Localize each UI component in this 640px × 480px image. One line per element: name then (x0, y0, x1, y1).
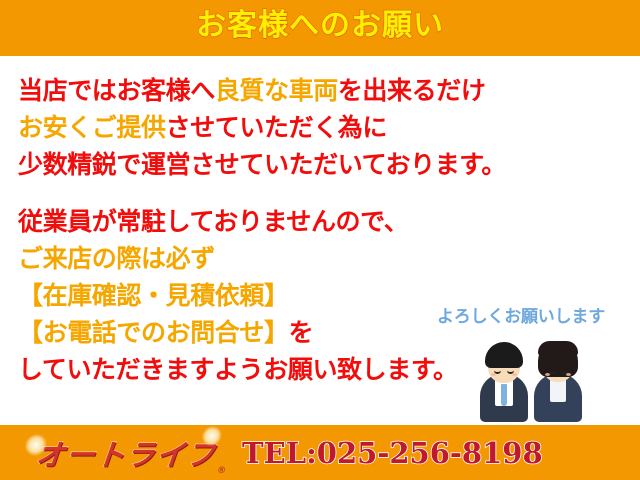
two-bowing-people-illustration (478, 332, 586, 422)
greeting-text: よろしくお願いします (437, 302, 605, 327)
male-staff-figure (478, 332, 530, 422)
body-text-segment: 少数精鋭で運営させていただいております。 (18, 150, 506, 179)
body-text-segment: を出来るだけ (338, 76, 486, 105)
company-logo-text: オートライフ (34, 438, 218, 472)
cheek-right (566, 373, 571, 376)
body-text-segment: させていただく為に (166, 113, 387, 142)
company-logo: オートライフ ® (34, 432, 218, 474)
body-text-segment: 【在庫確認・見積依頼】 (18, 281, 289, 310)
body-text-segment: ご来店の際は必ず (18, 244, 215, 273)
body-text-segment: 良質な車両 (215, 76, 338, 105)
cheek-left (545, 373, 550, 376)
body-line: 当店ではお客様へ良質な車両を出来るだけ (18, 72, 618, 109)
body-line: 従業員が常駐しておりませんので、 (18, 203, 618, 240)
telephone-number: TEL:025-256-8198 (242, 436, 543, 470)
hair-shape (485, 342, 523, 368)
hair-fringe-shape (538, 341, 578, 357)
body-text-segment: 従業員が常駐しておりませんので、 (18, 207, 408, 236)
body-text-segment: していただきますようお願い致します。 (18, 355, 458, 384)
body-line: お安くご提供させていただく為に (18, 109, 618, 146)
body-text-segment: を (289, 318, 314, 347)
body-text-segment: 【お電話でのお問合せ】 (18, 318, 289, 347)
page-title: お客様へのお願い (0, 4, 640, 48)
cheek-left (491, 373, 496, 376)
footer-content: オートライフ ® TEL:025-256-8198 (0, 425, 640, 480)
flyer-page: お客様へのお願い 当店ではお客様へ良質な車両を出来るだけお安くご提供させていただ… (0, 0, 640, 480)
cheek-right (512, 373, 517, 376)
body-line: ご来店の際は必ず (18, 240, 618, 277)
body-line (18, 183, 618, 203)
registered-trademark-icon: ® (217, 466, 228, 476)
body-line: 少数精鋭で運営させていただいております。 (18, 146, 618, 183)
body-text-segment: 当店ではお客様へ (18, 76, 215, 105)
necktie-shape (501, 384, 507, 406)
body-text-segment: お安くご提供 (18, 113, 166, 142)
female-staff-figure (532, 332, 584, 422)
